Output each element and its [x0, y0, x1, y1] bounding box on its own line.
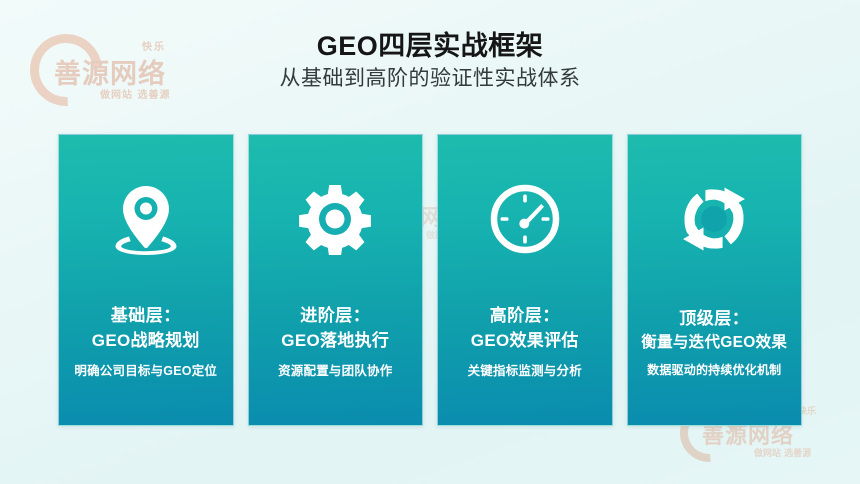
framework-card-iteration[interactable]: 顶级层： 衡量与迭代GEO效果 数据驱动的持续优化机制 — [627, 134, 803, 426]
gear-icon — [299, 177, 371, 261]
brand-tagline-bottom: 做网站 选善源 — [754, 446, 811, 459]
page-title: GEO四层实战框架 — [0, 30, 860, 62]
card-text: 顶级层： 衡量与迭代GEO效果 数据驱动的持续优化机制 — [628, 307, 802, 379]
framework-card-advanced[interactable]: 进阶层： GEO落地执行 资源配置与团队协作 — [248, 134, 424, 426]
card-title-line1: 进阶层： — [255, 304, 417, 329]
card-title-line2: GEO效果评估 — [444, 329, 606, 354]
framework-cards: 基础层： GEO战略规划 明确公司目标与GEO定位 进阶层： GEO落地执行 资… — [58, 134, 802, 426]
card-description: 关键指标监测与分析 — [444, 363, 606, 379]
page-subtitle: 从基础到高阶的验证性实战体系 — [0, 66, 860, 92]
card-title-line1: 高阶层： — [444, 304, 606, 329]
card-description: 资源配置与团队协作 — [255, 363, 417, 379]
card-title-line1: 基础层： — [65, 304, 227, 329]
card-text: 进阶层： GEO落地执行 资源配置与团队协作 — [249, 304, 423, 379]
framework-card-evaluation[interactable]: 高阶层： GEO效果评估 关键指标监测与分析 — [437, 134, 613, 426]
card-description: 数据驱动的持续优化机制 — [634, 363, 796, 379]
location-pin-icon — [113, 177, 179, 261]
gauge-icon — [489, 177, 561, 261]
framework-card-foundation[interactable]: 基础层： GEO战略规划 明确公司目标与GEO定位 — [58, 134, 234, 426]
card-title-line2: GEO落地执行 — [255, 329, 417, 354]
card-title-line2: GEO战略规划 — [65, 329, 227, 354]
header: GEO四层实战框架 从基础到高阶的验证性实战体系 — [0, 30, 860, 93]
card-description: 明确公司目标与GEO定位 — [65, 363, 227, 379]
card-title-line2: 衡量与迭代GEO效果 — [634, 332, 796, 354]
card-title-line1: 顶级层： — [634, 307, 796, 332]
card-text: 基础层： GEO战略规划 明确公司目标与GEO定位 — [59, 304, 233, 379]
card-text: 高阶层： GEO效果评估 关键指标监测与分析 — [438, 304, 612, 379]
refresh-cycle-icon — [678, 177, 750, 261]
